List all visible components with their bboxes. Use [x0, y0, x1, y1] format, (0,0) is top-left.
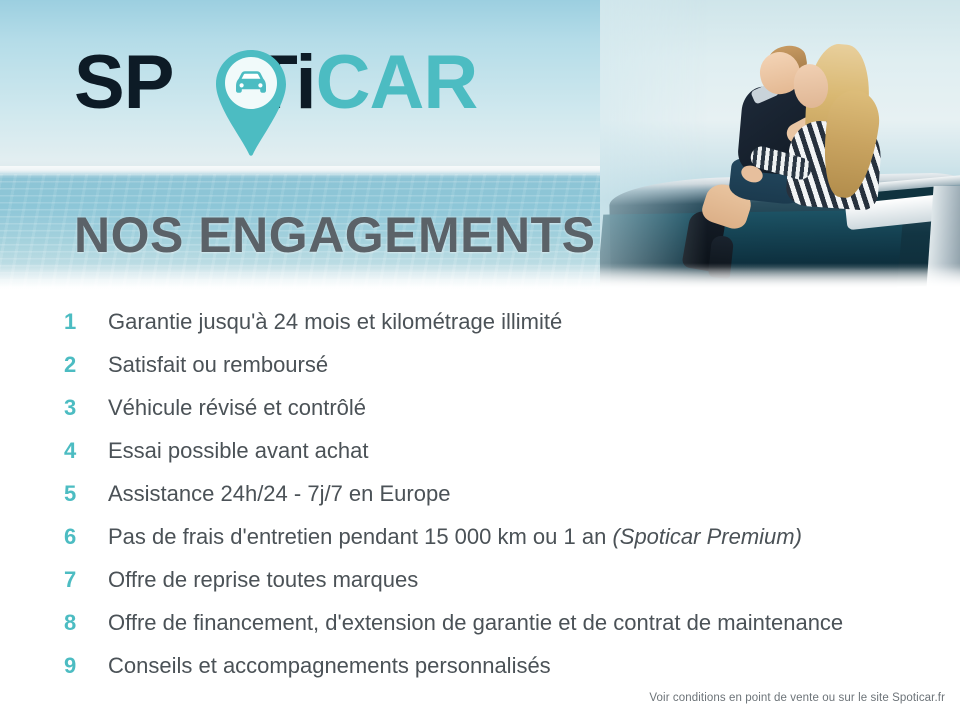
list-item: 9 Conseils et accompagnements personnali…: [0, 644, 960, 687]
item-number: 9: [64, 644, 108, 687]
list-item: 3 Véhicule révisé et contrôlé: [0, 386, 960, 429]
item-label: Garantie jusqu'à 24 mois et kilométrage …: [108, 300, 562, 343]
item-label: Offre de reprise toutes marques: [108, 558, 418, 601]
item-label: Essai possible avant achat: [108, 429, 369, 472]
item-label: Satisfait ou remboursé: [108, 343, 328, 386]
item-label-emphasis: (Spoticar Premium): [612, 524, 801, 549]
item-label-main: Pas de frais d'entretien pendant 15 000 …: [108, 524, 612, 549]
hero-bottom-fade: [0, 263, 960, 289]
item-number: 5: [64, 472, 108, 515]
item-number: 4: [64, 429, 108, 472]
item-label: Assistance 24h/24 - 7j/7 en Europe: [108, 472, 450, 515]
spoticar-commitments-poster: SP Ti CAR NOS ENGAGEMENTS 1 Garantie jus…: [0, 0, 960, 720]
item-number: 3: [64, 386, 108, 429]
item-number: 7: [64, 558, 108, 601]
list-item: 1 Garantie jusqu'à 24 mois et kilométrag…: [0, 300, 960, 343]
item-number: 6: [64, 515, 108, 558]
map-pin-car-icon: [213, 48, 289, 158]
list-item: 4 Essai possible avant achat: [0, 429, 960, 472]
item-label: Conseils et accompagnements personnalisé…: [108, 644, 551, 687]
list-item: 5 Assistance 24h/24 - 7j/7 en Europe: [0, 472, 960, 515]
hero-banner: SP Ti CAR NOS ENGAGEMENTS: [0, 0, 960, 289]
item-label: Offre de financement, d'extension de gar…: [108, 601, 843, 644]
list-item: 6 Pas de frais d'entretien pendant 15 00…: [0, 515, 960, 558]
page-title: NOS ENGAGEMENTS: [74, 206, 595, 264]
item-number: 8: [64, 601, 108, 644]
item-number: 1: [64, 300, 108, 343]
item-label: Pas de frais d'entretien pendant 15 000 …: [108, 515, 802, 558]
list-item: 7 Offre de reprise toutes marques: [0, 558, 960, 601]
logo-text-sp: SP: [74, 44, 173, 122]
commitments-list: 1 Garantie jusqu'à 24 mois et kilométrag…: [0, 300, 960, 687]
legal-footnote: Voir conditions en point de vente ou sur…: [649, 692, 945, 704]
logo-text-car: CAR: [316, 44, 478, 122]
item-number: 2: [64, 343, 108, 386]
item-label: Véhicule révisé et contrôlé: [108, 386, 366, 429]
list-item: 8 Offre de financement, d'extension de g…: [0, 601, 960, 644]
photo-left-blend: [600, 0, 960, 289]
family-on-car-photo: [600, 0, 960, 289]
list-item: 2 Satisfait ou remboursé: [0, 343, 960, 386]
